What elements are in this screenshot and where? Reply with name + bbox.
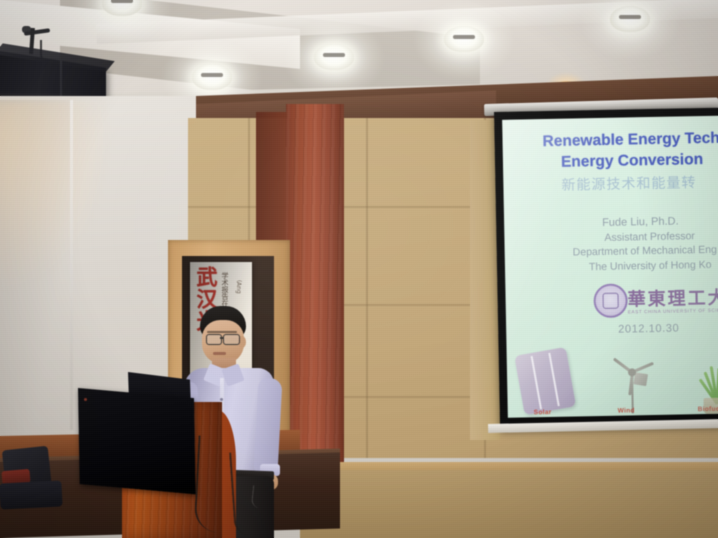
image-label-solar: Solar: [534, 409, 552, 416]
podium-cable: [194, 435, 223, 532]
image-label-biofuel: Biofuel: [698, 406, 718, 413]
slide-image-row: Solar Wind Biofuel: [507, 344, 718, 418]
presenter-right-arm: [254, 377, 283, 474]
university-seal-icon: [593, 283, 628, 318]
slide-title: Renewable Energy Tech Energy Conversion: [542, 126, 718, 173]
wind-turbine-icon: [603, 347, 664, 414]
presenter-mouth: [213, 352, 226, 355]
image-label-wind: Wind: [618, 407, 635, 414]
presenter-brow: [207, 331, 237, 333]
glasses-icon: [223, 334, 240, 345]
left-wall-light-glow: [0, 100, 110, 290]
red-wood-column: [286, 104, 344, 474]
solar-cell-icon: [514, 347, 576, 415]
plant-icon: [688, 343, 718, 414]
slide-date: 2012.10.30: [618, 322, 679, 335]
slide-author-block: Fude Liu, Ph.D. Assistant Professor Depa…: [574, 212, 718, 274]
glasses-bridge: [220, 337, 224, 339]
floor: [300, 470, 718, 538]
trouser-pocket: [251, 485, 272, 509]
chair-seat: [0, 480, 63, 509]
presentation-slide: Renewable Energy Tech Energy Conversion …: [502, 116, 718, 418]
slide-subtitle-chinese: 新能源技术和能量转: [561, 172, 696, 195]
projection-screen-surface: Renewable Energy Tech Energy Conversion …: [502, 116, 718, 418]
slide-title-line-2: Energy Conversion: [561, 147, 718, 173]
glasses-icon: [206, 334, 222, 345]
projection-screen-frame: Renewable Energy Tech Energy Conversion …: [494, 108, 718, 430]
monitor-power-led: [84, 398, 87, 401]
lecture-hall-photo: 武汉光 学术报告在 （Ang Renewable Energy Tech Ene…: [0, 0, 718, 538]
wall-corner-edge: [70, 100, 73, 430]
slide-title-line-1: Renewable Energy Tech: [542, 130, 718, 150]
podium-monitor: [78, 388, 196, 494]
